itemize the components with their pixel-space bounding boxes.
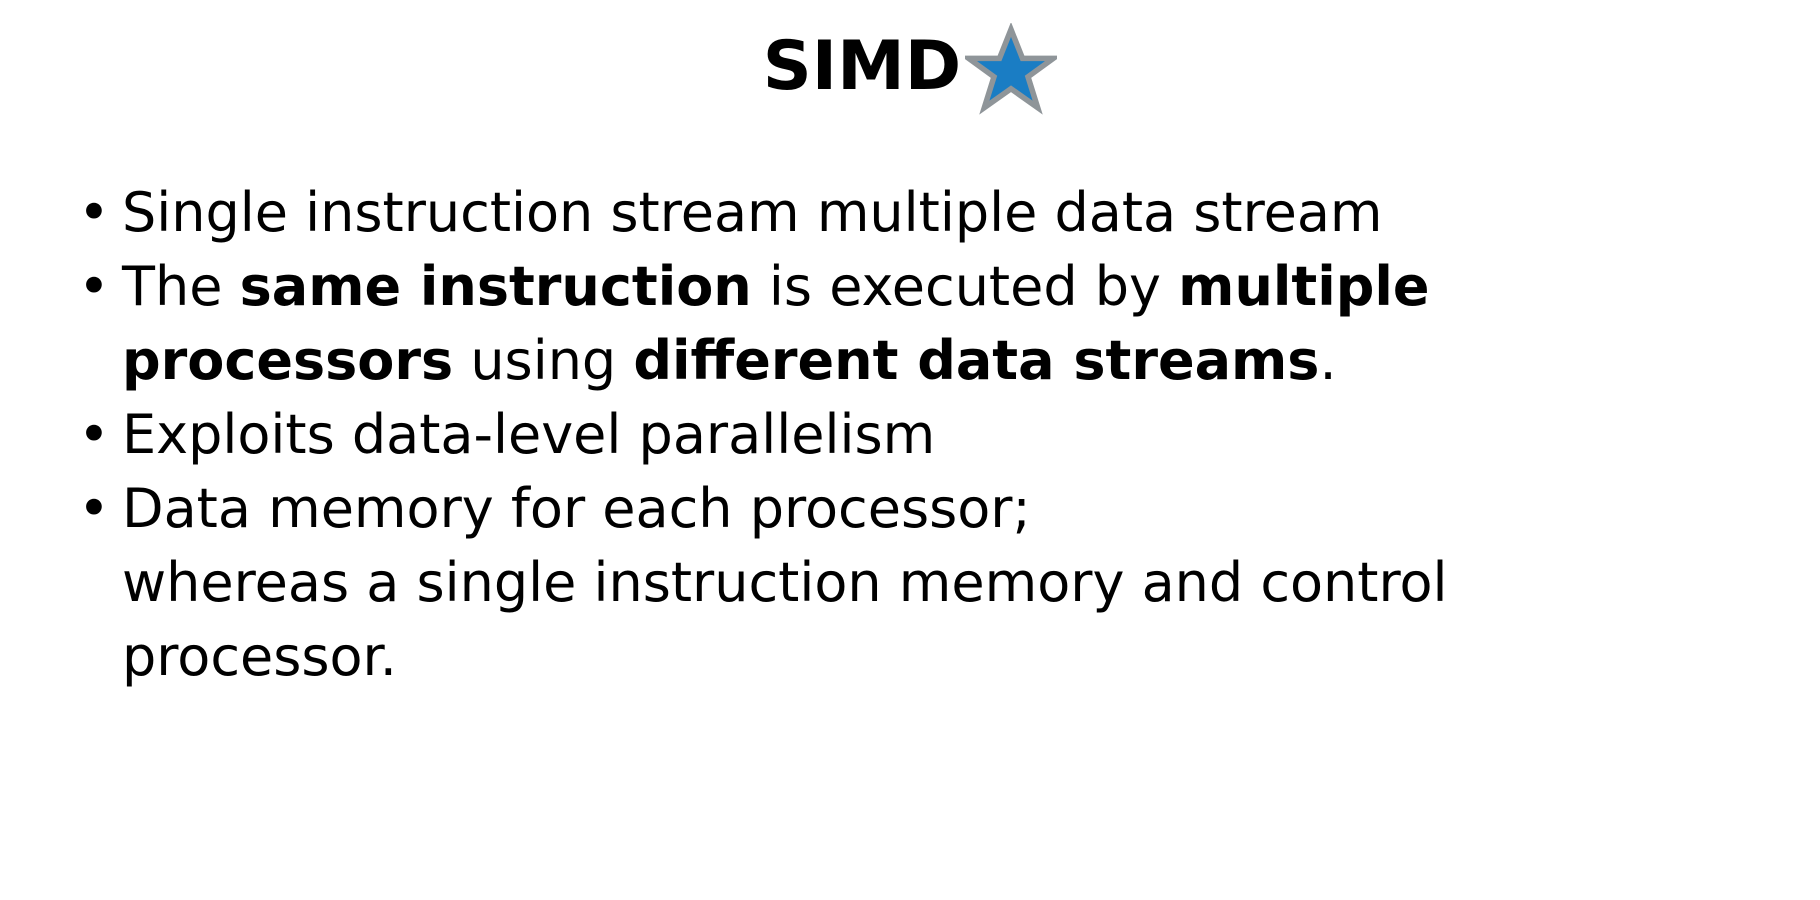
text-run: is executed by xyxy=(752,255,1178,318)
bold-text-run: different data streams xyxy=(633,329,1319,392)
bullet-item: •Exploits data-level parallelism xyxy=(70,398,1770,472)
bullet-item: •Single instruction stream multiple data… xyxy=(70,176,1770,250)
bullet-marker-icon: • xyxy=(70,250,122,324)
text-run: Data memory for each processor; xyxy=(122,477,1031,540)
blue-star-icon xyxy=(965,23,1057,115)
bullet-continuation-line: whereas a single instruction memory and … xyxy=(70,546,1770,620)
bullet-marker-icon: • xyxy=(70,472,122,546)
bullet-continuation-line: processors using different data streams. xyxy=(70,324,1770,398)
page-title: SIMD xyxy=(763,33,961,101)
slide-root: SIMD •Single instruction stream multiple… xyxy=(0,0,1820,900)
text-run: processor. xyxy=(122,625,397,688)
text-run: The xyxy=(122,255,240,318)
bullet-text: processor. xyxy=(122,620,1770,694)
slide-title-row: SIMD xyxy=(0,14,1820,119)
bullet-text: processors using different data streams. xyxy=(122,324,1770,398)
bullet-marker-icon: • xyxy=(70,176,122,250)
bullet-text: Data memory for each processor; xyxy=(122,472,1770,546)
bullet-text: whereas a single instruction memory and … xyxy=(122,546,1770,620)
text-run: whereas a single instruction memory and … xyxy=(122,551,1448,614)
bullet-text: Exploits data-level parallelism xyxy=(122,398,1770,472)
bold-text-run: processors xyxy=(122,329,453,392)
bullet-item: •The same instruction is executed by mul… xyxy=(70,250,1770,324)
text-run: . xyxy=(1319,329,1336,392)
text-run: using xyxy=(453,329,633,392)
bullet-continuation-line: processor. xyxy=(70,620,1770,694)
bullet-text: Single instruction stream multiple data … xyxy=(122,176,1770,250)
text-run: Single instruction stream multiple data … xyxy=(122,181,1383,244)
bullet-marker-icon: • xyxy=(70,398,122,472)
bullet-item: •Data memory for each processor; xyxy=(70,472,1770,546)
bullet-list: •Single instruction stream multiple data… xyxy=(70,176,1770,694)
bold-text-run: multiple xyxy=(1178,255,1429,318)
bullet-text: The same instruction is executed by mult… xyxy=(122,250,1770,324)
bold-text-run: same instruction xyxy=(240,255,752,318)
text-run: Exploits data-level parallelism xyxy=(122,403,935,466)
